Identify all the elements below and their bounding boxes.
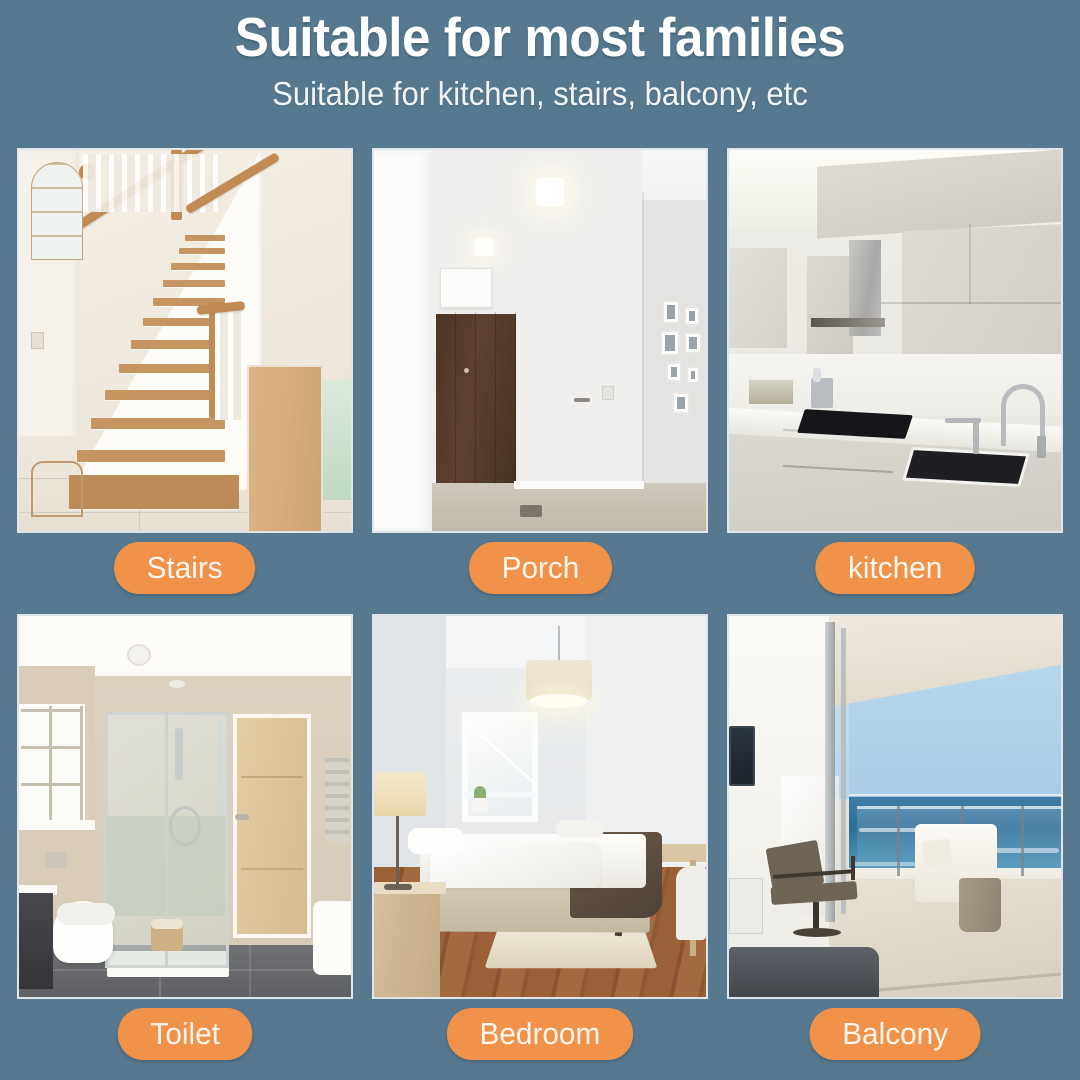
room-label-stairs[interactable]: Stairs	[114, 542, 255, 594]
gallery-cell-kitchen[interactable]: kitchen	[727, 148, 1063, 594]
porch-photo	[372, 148, 708, 533]
gallery-cell-porch[interactable]: Porch	[372, 148, 708, 594]
balcony-photo	[727, 614, 1063, 999]
room-label-toilet[interactable]: Toilet	[118, 1008, 253, 1060]
gallery-cell-toilet[interactable]: Toilet	[17, 614, 353, 1060]
room-label-porch[interactable]: Porch	[468, 542, 611, 594]
bathroom-photo	[17, 614, 353, 999]
room-label-bedroom[interactable]: Bedroom	[447, 1008, 633, 1060]
gallery-cell-bedroom[interactable]: Bedroom	[372, 614, 708, 1060]
gallery-cell-stairs[interactable]: Stairs	[17, 148, 353, 594]
room-label-balcony[interactable]: Balcony	[809, 1008, 980, 1060]
gallery-row: Stairs	[17, 148, 1063, 594]
wall-photo-frames	[658, 300, 706, 420]
room-label-kitchen[interactable]: kitchen	[815, 542, 975, 594]
header: Suitable for most families Suitable for …	[0, 0, 1080, 114]
staircase-photo	[17, 148, 353, 533]
kitchen-photo	[727, 148, 1063, 533]
page-subtitle: Suitable for kitchen, stairs, balcony, e…	[32, 74, 1047, 114]
page-title: Suitable for most families	[38, 6, 1042, 68]
room-gallery-grid: Stairs	[17, 148, 1063, 1060]
gallery-row: Toilet	[17, 614, 1063, 1060]
bedroom-photo	[372, 614, 708, 999]
gallery-cell-balcony[interactable]: Balcony	[727, 614, 1063, 1060]
